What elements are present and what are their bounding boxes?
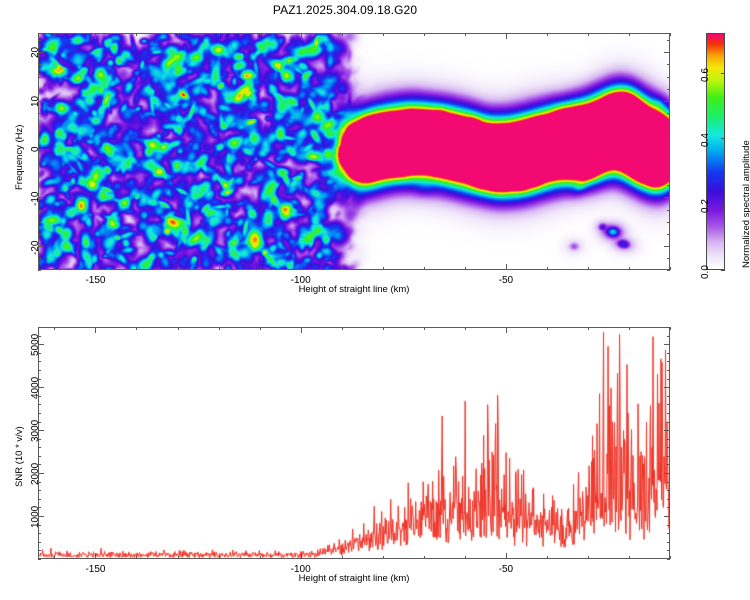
y-minor-tick [38, 64, 41, 65]
figure-title: PAZ1.2025.304.09.18.G20 [0, 3, 690, 17]
y-minor-tick [667, 327, 670, 328]
x-minor-tick [260, 267, 261, 270]
y-minor-tick [667, 77, 670, 78]
x-minor-tick [342, 556, 343, 559]
x-tick [301, 33, 302, 39]
y-minor-tick [667, 161, 670, 162]
y-minor-tick [667, 270, 670, 271]
y-minor-tick [38, 161, 41, 162]
x-minor-tick [178, 327, 179, 330]
y-tick-label: 4000 [30, 376, 41, 398]
y-minor-tick [667, 64, 670, 65]
x-minor-tick [629, 33, 630, 36]
y-minor-tick [667, 353, 670, 354]
y-minor-tick [667, 422, 670, 423]
x-tick [95, 327, 96, 333]
y-tick [664, 344, 670, 345]
x-minor-tick [465, 556, 466, 559]
x-minor-tick [670, 556, 671, 559]
x-minor-tick [383, 327, 384, 330]
x-minor-tick [136, 556, 137, 559]
x-tick-label: -50 [493, 564, 519, 575]
x-tick [506, 264, 507, 270]
x-minor-tick [54, 267, 55, 270]
y-minor-tick [38, 113, 41, 114]
y-minor-tick [38, 222, 41, 223]
colorbar-tick [721, 73, 725, 74]
y-tick [664, 516, 670, 517]
y-tick-label: 0 [30, 146, 41, 152]
y-minor-tick [38, 490, 41, 491]
x-tick-label: -50 [493, 275, 519, 286]
x-tick [95, 264, 96, 270]
y-tick [664, 473, 670, 474]
x-minor-tick [465, 327, 466, 330]
y-minor-tick [38, 234, 41, 235]
x-minor-tick [465, 267, 466, 270]
y-minor-tick [38, 361, 41, 362]
y-minor-tick [38, 370, 41, 371]
y-minor-tick [667, 379, 670, 380]
colorbar-tick [721, 138, 725, 139]
y-minor-tick [38, 173, 41, 174]
y-minor-tick [667, 533, 670, 534]
x-minor-tick [629, 327, 630, 330]
y-minor-tick [667, 559, 670, 560]
x-minor-tick [219, 327, 220, 330]
x-minor-tick [424, 556, 425, 559]
y-minor-tick [38, 550, 41, 551]
x-minor-tick [383, 556, 384, 559]
y-minor-tick [38, 533, 41, 534]
y-minor-tick [38, 137, 41, 138]
y-minor-tick [38, 125, 41, 126]
y-minor-tick [667, 210, 670, 211]
x-minor-tick [178, 267, 179, 270]
x-minor-tick [670, 327, 671, 330]
y-minor-tick [667, 456, 670, 457]
y-minor-tick [667, 525, 670, 526]
y-minor-tick [38, 413, 41, 414]
y-minor-tick [38, 258, 41, 259]
snr-panel [38, 327, 670, 559]
y-minor-tick [38, 210, 41, 211]
y-tick-label: 2000 [30, 462, 41, 484]
y-minor-tick [38, 559, 41, 560]
x-minor-tick [629, 267, 630, 270]
x-minor-tick [547, 33, 548, 36]
y-minor-tick [667, 336, 670, 337]
y-tick-label: 20 [30, 47, 41, 58]
x-minor-tick [670, 267, 671, 270]
x-minor-tick [260, 556, 261, 559]
y-minor-tick [38, 447, 41, 448]
y-tick-label: 1000 [30, 505, 41, 527]
spectrogram-canvas [39, 34, 670, 270]
x-minor-tick [260, 327, 261, 330]
x-minor-tick [260, 33, 261, 36]
y-minor-tick [38, 542, 41, 543]
x-minor-tick [54, 556, 55, 559]
x-minor-tick [588, 267, 589, 270]
y-tick-label: 5000 [30, 334, 41, 356]
y-minor-tick [667, 482, 670, 483]
y-minor-tick [667, 404, 670, 405]
y-minor-tick [667, 550, 670, 551]
x-minor-tick [629, 556, 630, 559]
x-minor-tick [588, 327, 589, 330]
x-tick [506, 327, 507, 333]
x-minor-tick [136, 327, 137, 330]
y-minor-tick [667, 258, 670, 259]
snr-x-axis-label: Height of straight line (km) [224, 573, 484, 584]
y-minor-tick [667, 173, 670, 174]
y-tick-label: 3000 [30, 419, 41, 441]
y-minor-tick [667, 137, 670, 138]
y-tick-label: -10 [30, 192, 41, 206]
y-minor-tick [667, 499, 670, 500]
x-tick [301, 553, 302, 559]
x-minor-tick [424, 267, 425, 270]
y-minor-tick [667, 507, 670, 508]
x-minor-tick [465, 33, 466, 36]
snr-canvas [39, 328, 670, 559]
x-minor-tick [54, 33, 55, 36]
y-tick [664, 197, 670, 198]
x-minor-tick [136, 267, 137, 270]
x-minor-tick [383, 267, 384, 270]
x-minor-tick [424, 33, 425, 36]
x-minor-tick [342, 267, 343, 270]
x-minor-tick [383, 33, 384, 36]
x-tick [506, 553, 507, 559]
x-minor-tick [342, 33, 343, 36]
colorbar-tick-label: 0.0 [700, 265, 711, 279]
y-tick-label: -20 [30, 240, 41, 254]
x-minor-tick [547, 327, 548, 330]
x-tick [506, 33, 507, 39]
y-tick [664, 246, 670, 247]
x-minor-tick [342, 327, 343, 330]
y-minor-tick [38, 270, 41, 271]
y-minor-tick [38, 40, 41, 41]
y-minor-tick [667, 439, 670, 440]
x-minor-tick [219, 267, 220, 270]
y-minor-tick [667, 396, 670, 397]
y-minor-tick [38, 499, 41, 500]
x-tick [95, 33, 96, 39]
colorbar-tick [721, 270, 725, 271]
x-minor-tick [588, 33, 589, 36]
x-tick-label: -150 [82, 564, 108, 575]
x-minor-tick [670, 33, 671, 36]
y-minor-tick [38, 89, 41, 90]
y-minor-tick [667, 234, 670, 235]
y-tick [664, 101, 670, 102]
y-tick [664, 430, 670, 431]
y-minor-tick [667, 464, 670, 465]
colorbar-tick [721, 204, 725, 205]
y-minor-tick [38, 404, 41, 405]
y-minor-tick [667, 125, 670, 126]
y-tick [664, 52, 670, 53]
snr-y-axis-label: SNR (10 * v/v) [14, 426, 25, 487]
x-tick-label: -150 [82, 275, 108, 286]
y-minor-tick [38, 456, 41, 457]
colorbar-tick-label: 0.2 [700, 199, 711, 213]
x-tick [301, 264, 302, 270]
x-minor-tick [178, 33, 179, 36]
y-minor-tick [667, 222, 670, 223]
y-minor-tick [667, 447, 670, 448]
x-tick [301, 327, 302, 333]
x-minor-tick [178, 556, 179, 559]
x-minor-tick [588, 556, 589, 559]
x-minor-tick [547, 267, 548, 270]
spectrogram-x-axis-label: Height of straight line (km) [224, 284, 484, 295]
spectrogram-y-axis-label: Frequency (Hz) [14, 125, 25, 190]
y-tick-label: 10 [30, 95, 41, 106]
y-minor-tick [667, 542, 670, 543]
x-minor-tick [424, 327, 425, 330]
y-minor-tick [667, 370, 670, 371]
y-minor-tick [38, 185, 41, 186]
y-minor-tick [667, 113, 670, 114]
x-minor-tick [219, 33, 220, 36]
y-minor-tick [667, 40, 670, 41]
x-minor-tick [219, 556, 220, 559]
y-minor-tick [38, 327, 41, 328]
colorbar-tick-label: 0.6 [700, 68, 711, 82]
colorbar-axis-label: Normalized spectral amplitude [741, 140, 750, 268]
y-tick [664, 387, 670, 388]
y-minor-tick [667, 490, 670, 491]
y-minor-tick [667, 361, 670, 362]
x-minor-tick [547, 556, 548, 559]
y-minor-tick [38, 77, 41, 78]
colorbar-tick-label: 0.4 [700, 133, 711, 147]
y-minor-tick [667, 89, 670, 90]
y-tick [664, 149, 670, 150]
y-minor-tick [667, 413, 670, 414]
y-minor-tick [667, 185, 670, 186]
x-minor-tick [136, 33, 137, 36]
x-tick [95, 553, 96, 559]
x-minor-tick [54, 327, 55, 330]
spectrogram-panel [38, 33, 670, 270]
figure-root: PAZ1.2025.304.09.18.G20 -150-100-50-20-1… [0, 0, 750, 600]
